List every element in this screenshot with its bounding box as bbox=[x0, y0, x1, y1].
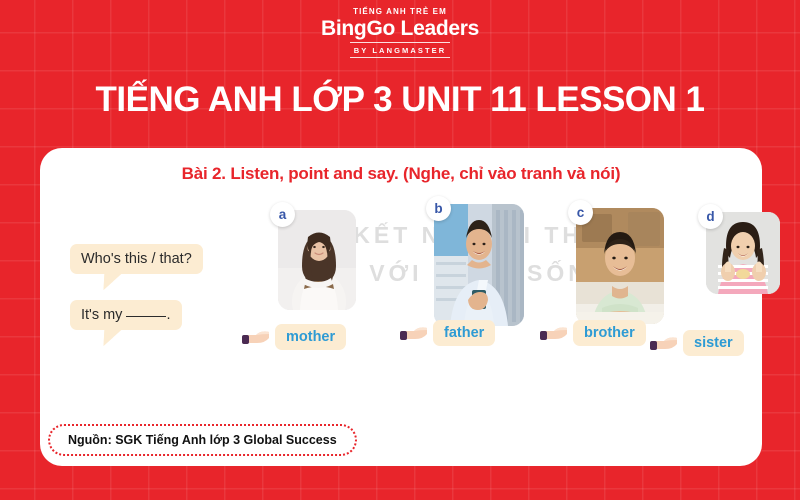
speech-bubbles: Who's this / that? It's my . bbox=[70, 244, 255, 330]
answer-blank bbox=[126, 316, 166, 317]
label-row-brother: brother bbox=[540, 320, 646, 346]
exercise-title: Bài 2. Listen, point and say. (Nghe, chỉ… bbox=[40, 164, 762, 184]
hand-glyph bbox=[400, 323, 428, 343]
speech-bubble-answer-prefix: It's my bbox=[81, 307, 122, 323]
label-row-father: father bbox=[400, 320, 495, 346]
speech-bubble-answer-suffix: . bbox=[166, 307, 170, 323]
boy-photo-illustration bbox=[576, 208, 664, 324]
word-label-mother[interactable]: mother bbox=[275, 324, 346, 350]
logo-name: BingGo Leaders bbox=[0, 17, 800, 40]
hand-glyph bbox=[540, 323, 568, 343]
photo-mother bbox=[278, 210, 356, 310]
brand-logo: TIẾNG ANH TRẺ EM BingGo Leaders BY LANGM… bbox=[0, 7, 800, 58]
picture-card-father[interactable]: b father bbox=[434, 204, 524, 326]
picture-card-sister[interactable]: d sister bbox=[706, 212, 780, 294]
pointing-hand-icon bbox=[400, 323, 428, 343]
picture-card-mother[interactable]: a mother bbox=[278, 210, 356, 310]
label-row-sister: sister bbox=[650, 330, 744, 356]
pointing-hand-icon bbox=[242, 327, 270, 347]
label-row-mother: mother bbox=[242, 324, 346, 350]
woman-photo-illustration bbox=[278, 210, 356, 310]
card-badge-a: a bbox=[270, 202, 295, 227]
logo-tagline: TIẾNG ANH TRẺ EM bbox=[0, 7, 800, 17]
page-title: TIẾNG ANH LỚP 3 UNIT 11 LESSON 1 bbox=[0, 80, 800, 120]
pointing-hand-icon bbox=[650, 333, 678, 353]
hand-glyph bbox=[242, 327, 270, 347]
man-photo-illustration bbox=[434, 204, 524, 326]
hand-glyph bbox=[650, 333, 678, 353]
word-label-sister[interactable]: sister bbox=[683, 330, 744, 356]
word-label-brother[interactable]: brother bbox=[573, 320, 646, 346]
card-badge-b: b bbox=[426, 196, 451, 221]
picture-card-brother[interactable]: c brother bbox=[576, 208, 664, 324]
speech-bubble-answer: It's my . bbox=[70, 300, 182, 330]
speech-bubble-question: Who's this / that? bbox=[70, 244, 203, 274]
photo-brother bbox=[576, 208, 664, 324]
speech-bubble-question-text: Who's this / that? bbox=[81, 251, 192, 267]
card-badge-d: d bbox=[698, 204, 723, 229]
pointing-hand-icon bbox=[540, 323, 568, 343]
logo-byline: BY LANGMASTER bbox=[350, 42, 451, 58]
word-label-father[interactable]: father bbox=[433, 320, 495, 346]
card-badge-c: c bbox=[568, 200, 593, 225]
content-card: Bài 2. Listen, point and say. (Nghe, chỉ… bbox=[40, 148, 762, 466]
source-badge: Nguồn: SGK Tiếng Anh lớp 3 Global Succes… bbox=[48, 424, 357, 456]
photo-father bbox=[434, 204, 524, 326]
